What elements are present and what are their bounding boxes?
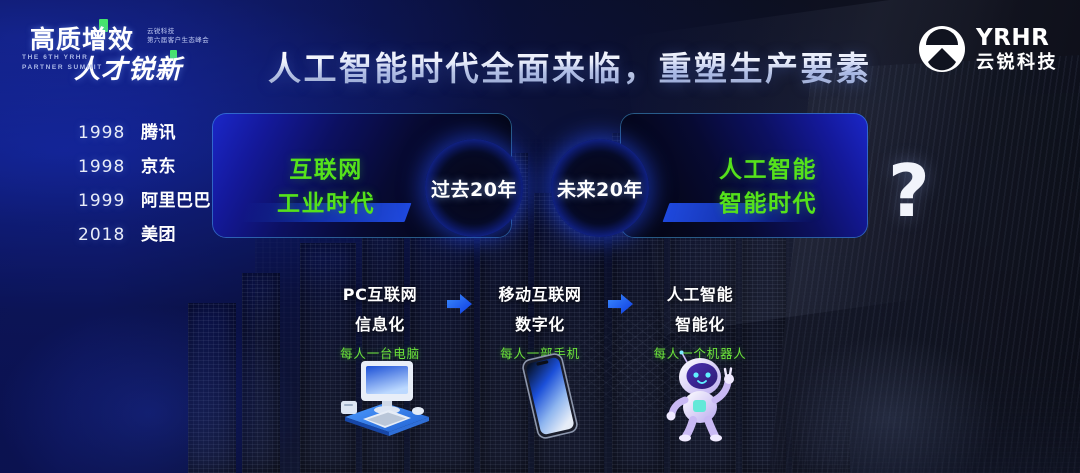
brand-logo: YRHR 云锐科技 [918,24,1058,74]
stage-1-line2: 信息化 [305,311,455,335]
smartphone-icon [515,352,585,440]
robot-mascot-icon [660,350,742,442]
bg-tower [242,273,280,473]
circle-past-20-years: 过去20年 [425,139,523,237]
list-item: 1998 腾讯 [78,118,228,152]
stage-3-line1: 人工智能 [625,281,775,305]
arrow-right-icon [444,289,474,319]
stage-pc-internet: PC互联网 信息化 每人一台电脑 [305,281,455,362]
brand-name-en: YRHR [976,27,1058,50]
company-name: 美团 [141,220,176,245]
desktop-computer-icon [325,357,435,437]
bg-tower [792,253,850,473]
arrow-right-icon [605,289,635,319]
summit-sub-cn-1: 云锐科技 [147,27,209,36]
presentation-slide: 高质增效 人才锐新 云锐科技 第六届客户生态峰会 THE 6TH YRHR PA… [0,0,1080,473]
year-value: 1998 [78,157,128,177]
era-left-line1: 互联网 [258,153,394,187]
summit-sub-en-2: PARTNER SUMMIT [22,63,103,73]
list-item: 1999 阿里巴巴 [78,186,228,220]
company-name: 京东 [141,152,176,177]
list-item: 1998 京东 [78,152,228,186]
era-label-left: 互联网 工业时代 [258,153,394,221]
company-year-list: 1998 腾讯 1998 京东 1999 阿里巴巴 2018 美团 [78,118,228,254]
year-value: 1998 [78,123,128,143]
era-right-line2: 智能时代 [700,187,836,221]
company-name: 腾讯 [141,118,176,143]
stage-1-line1: PC互联网 [305,281,455,305]
page-title: 人工智能时代全面来临，重塑生产要素 [268,42,872,90]
circle-future-20-years: 未来20年 [551,139,649,237]
summit-sub-cn-2: 第六届客户生态峰会 [147,36,209,45]
brand-text: YRHR 云锐科技 [976,27,1058,72]
era-left-line2: 工业时代 [258,187,394,221]
stage-3-line2: 智能化 [625,311,775,335]
company-name: 阿里巴巴 [141,186,211,211]
summit-logo-sub: 云锐科技 第六届客户生态峰会 [147,27,209,45]
brand-name-cn: 云锐科技 [976,54,1058,72]
summit-sub-en-1: THE 6TH YRHR [22,53,103,63]
era-label-right: 人工智能 智能时代 [700,153,836,221]
question-mark: ? [888,155,930,227]
stage-mobile-internet: 移动互联网 数字化 每人一部手机 [465,281,615,362]
year-value: 1999 [78,191,128,211]
era-right-line1: 人工智能 [700,153,836,187]
list-item: 2018 美团 [78,220,228,254]
year-value: 2018 [78,225,128,245]
bg-tower [188,303,236,473]
yrhr-circle-logo-icon [918,25,966,73]
stage-2-line1: 移动互联网 [465,281,615,305]
stage-2-line2: 数字化 [465,311,615,335]
circle-future-label: 未来20年 [557,175,643,202]
summit-logo: 高质增效 人才锐新 云锐科技 第六届客户生态峰会 THE 6TH YRHR PA… [22,20,237,82]
summit-logo-en: THE 6TH YRHR PARTNER SUMMIT [22,53,103,73]
bottom-right-glow [740,303,1040,473]
circle-past-label: 过去20年 [431,175,517,202]
